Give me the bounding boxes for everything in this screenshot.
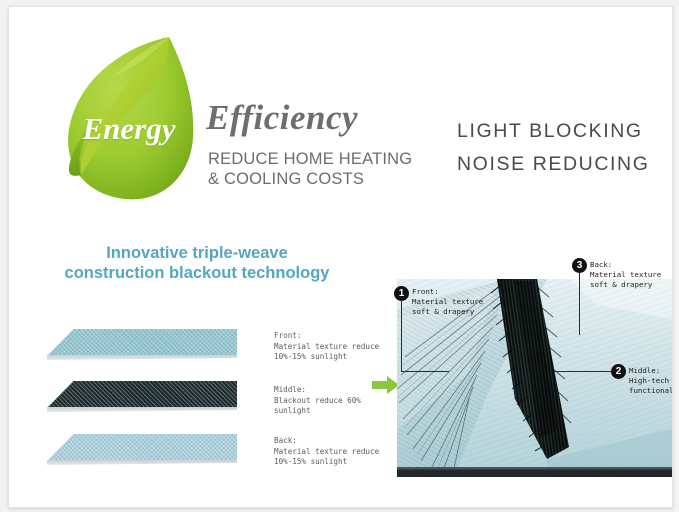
slab-edge bbox=[47, 407, 237, 412]
slab-edge bbox=[47, 355, 237, 360]
layer-slab-middle bbox=[47, 381, 237, 415]
slab-surface bbox=[47, 329, 237, 356]
arrow-right-icon bbox=[372, 375, 400, 395]
section-heading: Innovative triple-weave construction bla… bbox=[27, 243, 367, 283]
slab-surface bbox=[47, 434, 237, 461]
callout-text-2: Middle: High-tech eco-yarn functional bl… bbox=[629, 366, 673, 397]
callout-pin-2: 2 bbox=[611, 364, 626, 379]
slab-surface bbox=[47, 381, 237, 408]
layer-label-front: Front: Material texture reduce 10%-15% s… bbox=[274, 331, 404, 363]
claims-list: LIGHT BLOCKING NOISE REDUCING bbox=[457, 115, 650, 181]
logo-wordmark: Energy bbox=[63, 111, 195, 147]
callout-pin-1: 1 bbox=[394, 286, 409, 301]
claim-noise-reducing: NOISE REDUCING bbox=[457, 148, 650, 181]
layer-slab-front bbox=[47, 329, 237, 363]
page-background: Energy Efficiency REDUCE HOME HEATING & … bbox=[0, 0, 679, 512]
claim-light-blocking: LIGHT BLOCKING bbox=[457, 115, 650, 148]
callout-1-leader-horizontal bbox=[401, 371, 449, 372]
page-title: Efficiency bbox=[206, 98, 358, 138]
callout-text-3: Back: Material texture soft & drapery bbox=[590, 260, 673, 291]
page-subtitle: REDUCE HOME HEATING & COOLING COSTS bbox=[208, 149, 412, 189]
brand-logo: Energy bbox=[51, 25, 201, 205]
callout-1-leader-vertical bbox=[401, 301, 402, 372]
infographic-card: Energy Efficiency REDUCE HOME HEATING & … bbox=[8, 6, 673, 508]
layer-label-back: Back: Material texture reduce 10%-15% su… bbox=[274, 436, 404, 468]
callout-text-1: Front: Material texture soft & drapery bbox=[412, 287, 522, 318]
callout-pin-3: 3 bbox=[572, 258, 587, 273]
slab-edge bbox=[47, 460, 237, 465]
layer-slab-back bbox=[47, 434, 237, 468]
callout-3-leader-vertical bbox=[579, 273, 580, 335]
callout-2-leader-horizontal bbox=[554, 371, 612, 372]
